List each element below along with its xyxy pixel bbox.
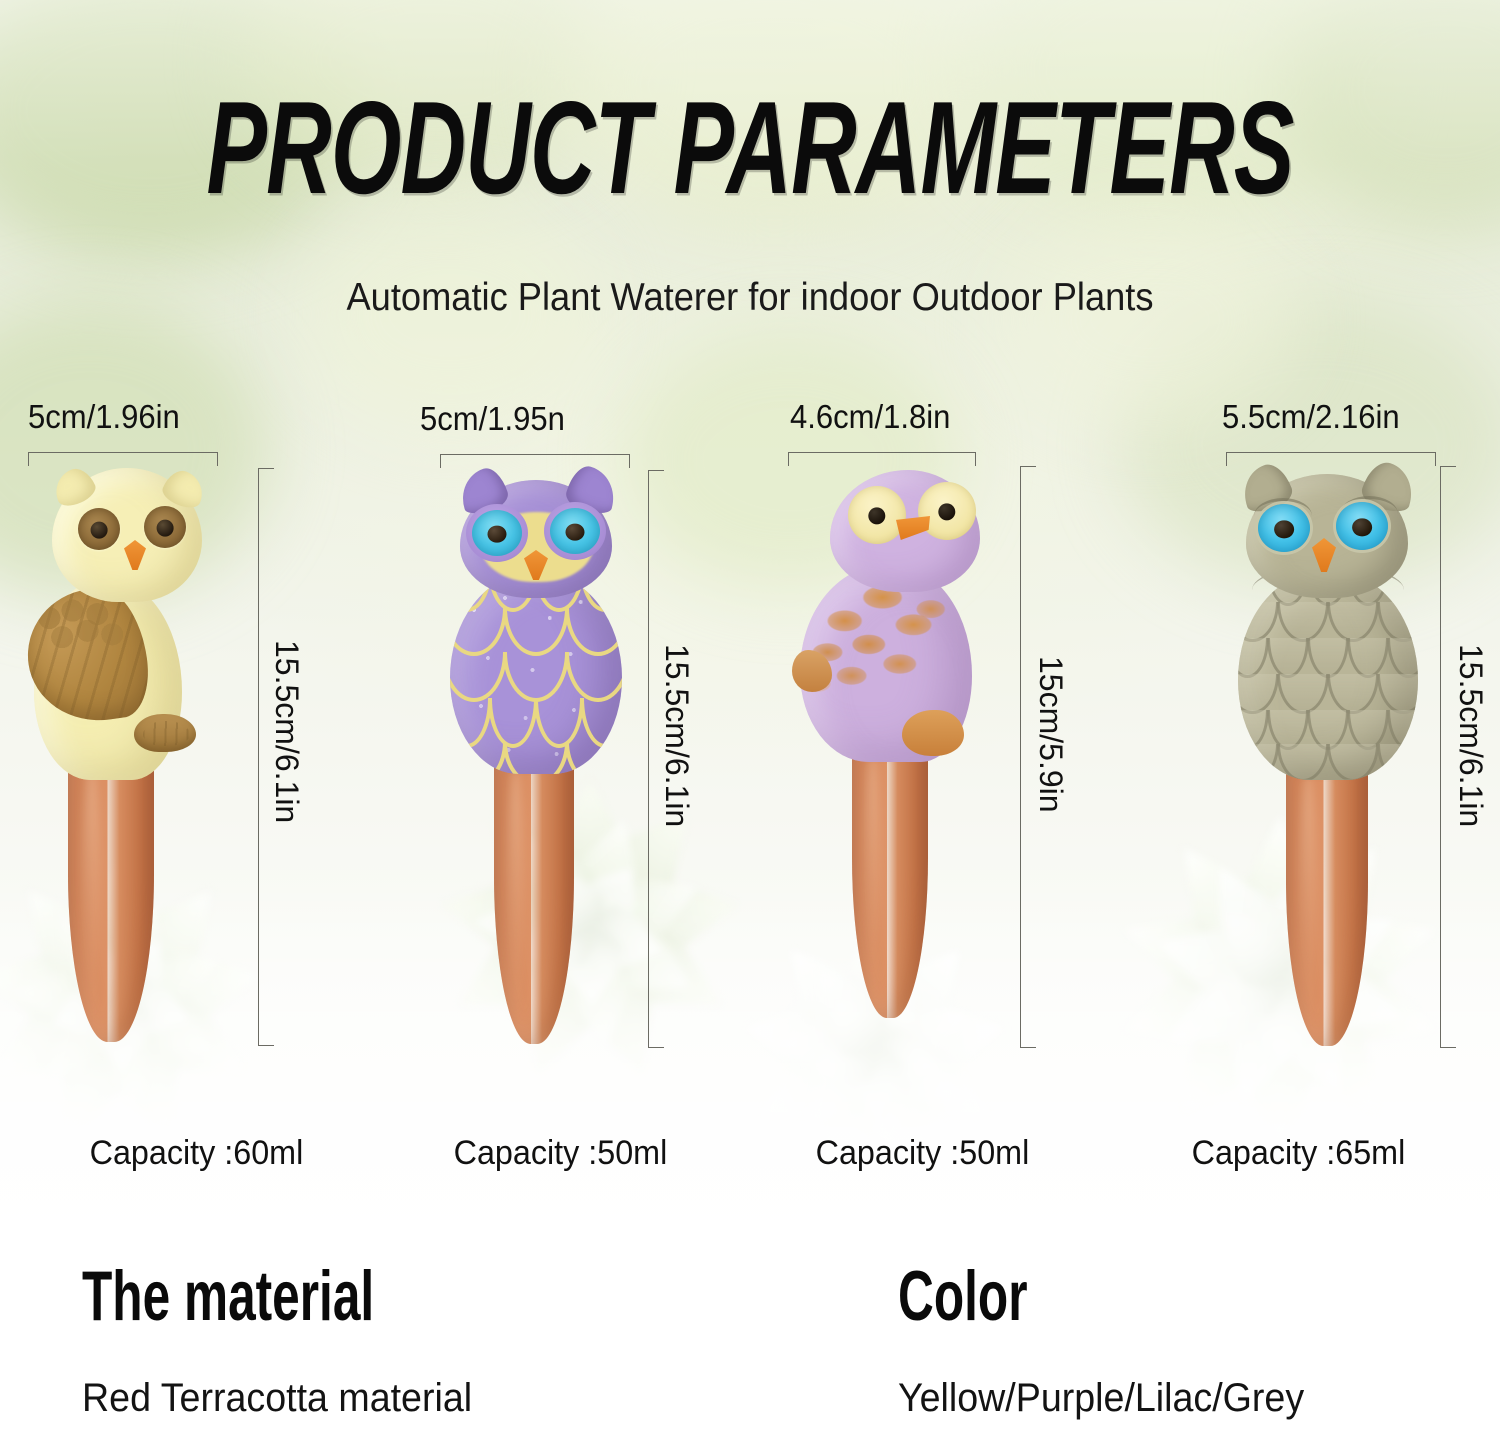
terracotta-spike-grey (1286, 760, 1368, 1046)
capacity-label-yellow: Capacity :60ml (90, 1134, 304, 1173)
color-info-block: Color Yellow/Purple/Lilac/Grey (898, 1262, 1330, 1421)
owl-foot-lilac (902, 710, 964, 756)
owl-eye-grey-left (1258, 504, 1310, 552)
capacity-label-lilac: Capacity :50ml (816, 1134, 1030, 1173)
owl-eye-yellow-right (144, 506, 186, 548)
product-grid: 5cm/1.96in 15.5cm/6.1in (0, 0, 1500, 1439)
owl-figurine-grey (1228, 464, 1440, 1048)
terracotta-spike-lilac (852, 742, 928, 1018)
width-label-lilac: 4.6cm/1.8in (790, 398, 950, 436)
capacity-label-grey: Capacity :65ml (1192, 1134, 1406, 1173)
owl-eye-yellow-left (78, 508, 120, 550)
terracotta-spike-yellow (68, 752, 154, 1042)
owl-eye-lilac-left (848, 486, 906, 544)
height-label-grey: 15.5cm/6.1in (1452, 644, 1489, 827)
owl-eye-purple-right (550, 508, 600, 554)
owl-figurine-purple (440, 464, 640, 1044)
infographic-page: PRODUCT PARAMETERS Automatic Plant Water… (0, 0, 1500, 1439)
material-value: Red Terracotta material (82, 1376, 472, 1421)
terracotta-spike-purple (494, 754, 574, 1044)
width-label-purple: 5cm/1.95n (420, 400, 565, 438)
owl-figurine-yellow (30, 462, 240, 1042)
color-heading: Color (898, 1262, 1244, 1333)
height-label-purple: 15.5cm/6.1in (658, 644, 695, 827)
owl-eye-grey-right (1336, 502, 1388, 550)
width-bracket-lilac (788, 452, 976, 466)
width-label-yellow: 5cm/1.96in (28, 398, 180, 436)
owl-eye-lilac-right (918, 482, 976, 540)
height-label-lilac: 15cm/5.9in (1032, 656, 1069, 813)
color-value: Yellow/Purple/Lilac/Grey (898, 1376, 1304, 1421)
owl-foot-yellow (134, 714, 196, 752)
capacity-label-purple: Capacity :50ml (454, 1134, 668, 1173)
material-info-block: The material Red Terracotta material (82, 1262, 497, 1421)
owl-figurine-lilac (790, 466, 1000, 1048)
owl-wing-yellow (19, 582, 154, 729)
height-label-yellow: 15.5cm/6.1in (268, 640, 305, 823)
width-label-grey: 5.5cm/2.16in (1222, 398, 1400, 436)
material-heading: The material (82, 1262, 414, 1333)
owl-eye-purple-left (472, 510, 522, 556)
